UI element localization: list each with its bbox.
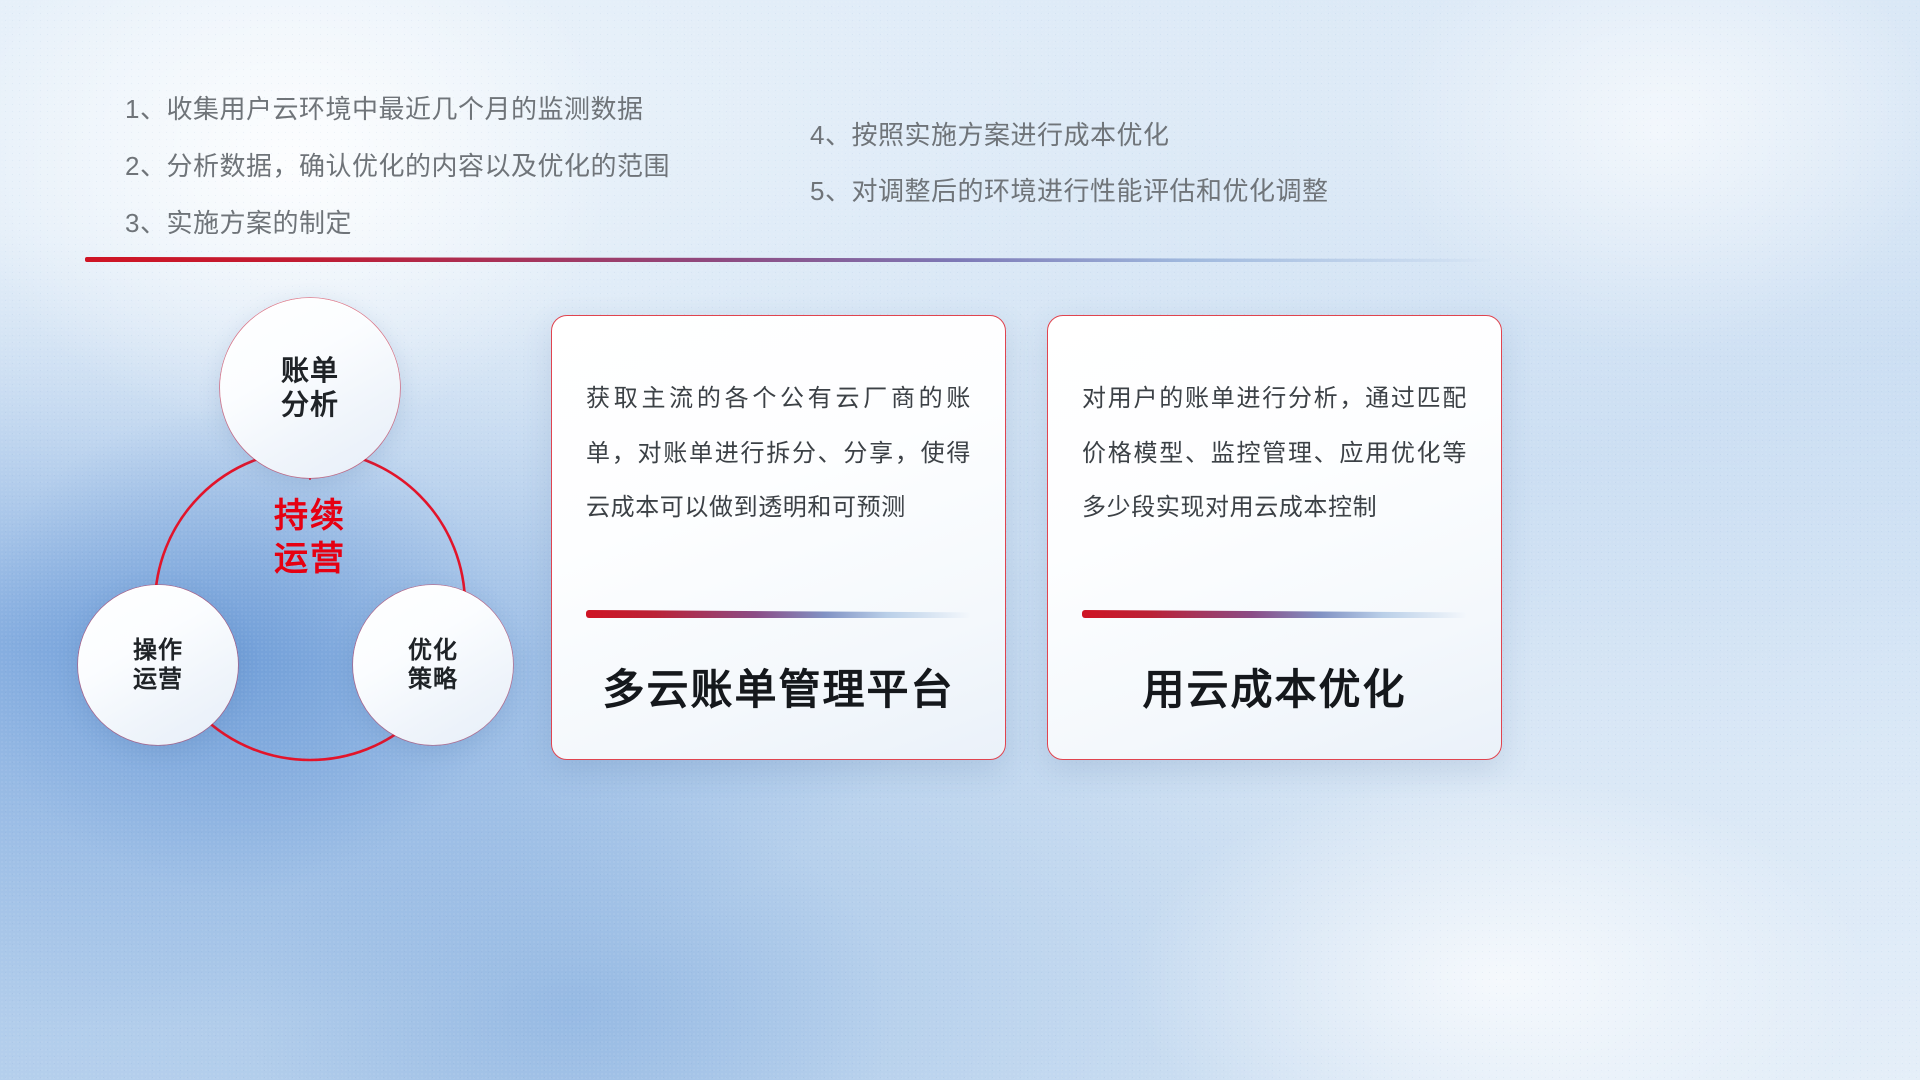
- diagram-node-billing-analysis[interactable]: 账单 分析: [220, 298, 400, 478]
- diagram-node-operations[interactable]: 操作 运营: [78, 585, 238, 745]
- diagram-center-label-line2: 运营: [60, 538, 560, 581]
- step-item-5: 5、对调整后的环境进行性能评估和优化调整: [810, 178, 1328, 204]
- diagram-node-label: 操作 运营: [133, 636, 183, 695]
- step-item-4: 4、按照实施方案进行成本优化: [810, 122, 1328, 148]
- step-item-2: 2、分析数据，确认优化的内容以及优化的范围: [125, 153, 670, 179]
- card-title: 多云账单管理平台: [586, 656, 971, 717]
- card-accent-rule: [586, 610, 971, 618]
- diagram-center-label: 持续 运营: [60, 495, 560, 580]
- diagram-node-optimization[interactable]: 优化 策略: [353, 585, 513, 745]
- steps-right-column: 4、按照实施方案进行成本优化 5、对调整后的环境进行性能评估和优化调整: [810, 122, 1328, 234]
- node-label-line1: 优化: [408, 637, 458, 664]
- node-label-line2: 运营: [133, 666, 183, 693]
- diagram-node-label: 账单 分析: [281, 354, 339, 422]
- card-body-text: 获取主流的各个公有云厂商的账单，对账单进行拆分、分享，使得云成本可以做到透明和可…: [586, 372, 971, 536]
- card-accent-rule: [1082, 610, 1467, 618]
- section-divider: [85, 257, 1495, 262]
- step-item-3: 3、实施方案的制定: [125, 210, 670, 236]
- card-cloud-cost-optimization[interactable]: 对用户的账单进行分析，通过匹配价格模型、监控管理、应用优化等多少段实现对用云成本…: [1047, 315, 1502, 760]
- steps-left-column: 1、收集用户云环境中最近几个月的监测数据 2、分析数据，确认优化的内容以及优化的…: [125, 96, 670, 267]
- node-label-line2: 分析: [281, 389, 339, 420]
- card-title: 用云成本优化: [1082, 656, 1467, 717]
- step-item-1: 1、收集用户云环境中最近几个月的监测数据: [125, 96, 670, 122]
- diagram-center-label-line1: 持续: [60, 495, 560, 538]
- continuous-operations-diagram: 持续 运营 账单 分析 操作 运营 优化 策略: [60, 280, 560, 780]
- card-body-text: 对用户的账单进行分析，通过匹配价格模型、监控管理、应用优化等多少段实现对用云成本…: [1082, 372, 1467, 536]
- node-label-line1: 操作: [133, 637, 183, 664]
- card-multi-cloud-billing-platform[interactable]: 获取主流的各个公有云厂商的账单，对账单进行拆分、分享，使得云成本可以做到透明和可…: [551, 315, 1006, 760]
- diagram-node-label: 优化 策略: [408, 636, 458, 695]
- node-label-line1: 账单: [281, 355, 339, 386]
- node-label-line2: 策略: [408, 666, 458, 693]
